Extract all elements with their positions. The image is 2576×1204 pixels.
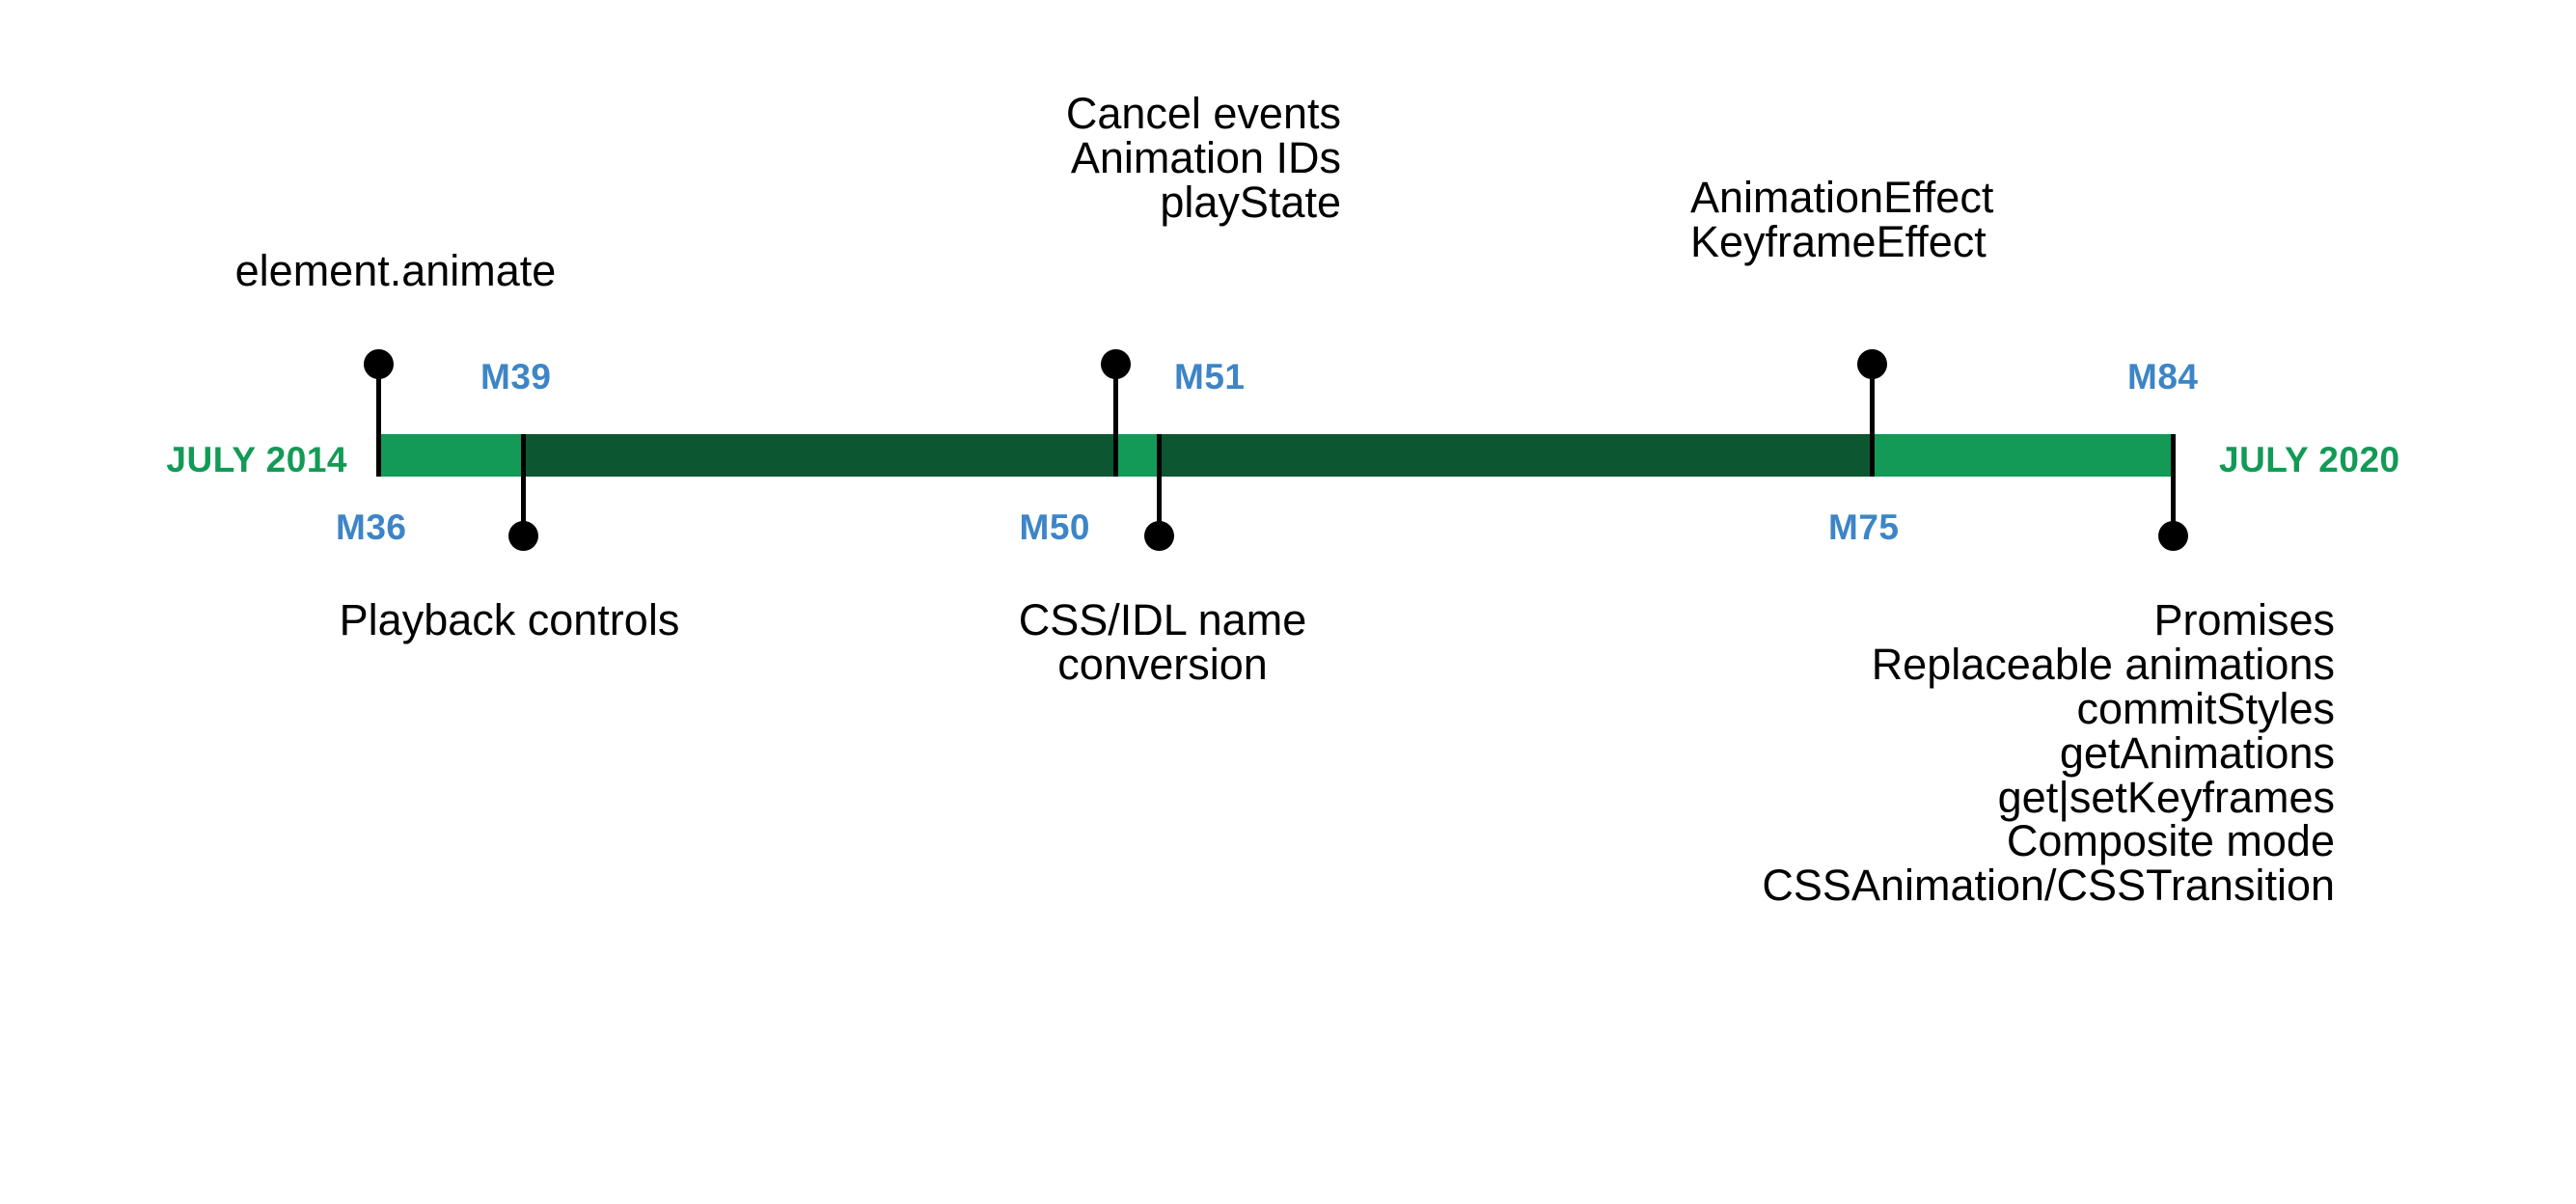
bar-segment-m50-m75 bbox=[1157, 434, 1870, 477]
marker-stem-m75 bbox=[1870, 364, 1875, 477]
feature-block-effects: AnimationEffect KeyframeEffect bbox=[1690, 176, 2366, 264]
milestone-label-m36[interactable]: M36 bbox=[336, 509, 406, 545]
feature-line: CSSAnimation/CSSTransition bbox=[1380, 863, 2335, 908]
bar-segment-m39-m51 bbox=[523, 434, 1113, 477]
marker-stem-m84 bbox=[2171, 434, 2176, 536]
bar-segment-m51-m50 bbox=[1113, 434, 1157, 477]
feature-line: Composite mode bbox=[1380, 819, 2335, 863]
milestone-label-m39[interactable]: M39 bbox=[480, 359, 551, 395]
marker-stem-m36 bbox=[376, 364, 381, 477]
feature-line: Cancel events bbox=[579, 92, 1341, 136]
milestone-label-m51[interactable]: M51 bbox=[1174, 359, 1245, 395]
feature-line: Promises bbox=[1380, 598, 2335, 643]
timeline-figure: JULY 2014 JULY 2020 M36 element.animate … bbox=[0, 0, 2576, 1204]
feature-block-cancel-events: Cancel events Animation IDs playState bbox=[579, 92, 1341, 225]
feature-line: KeyframeEffect bbox=[1690, 220, 2366, 264]
feature-block-element-animate: element.animate bbox=[135, 249, 656, 293]
bar-segment-july2014-m39 bbox=[378, 434, 523, 477]
marker-stem-m51 bbox=[1113, 364, 1118, 477]
feature-line: getAnimations bbox=[1380, 731, 2335, 776]
feature-line: Animation IDs bbox=[579, 136, 1341, 180]
timeline-bar bbox=[378, 434, 2171, 477]
milestone-label-m75[interactable]: M75 bbox=[1828, 509, 1899, 545]
feature-block-css-idl-conversion: CSS/IDL name conversion bbox=[902, 598, 1423, 687]
feature-line: Replaceable animations bbox=[1380, 643, 2335, 687]
feature-block-playback-controls: Playback controls bbox=[249, 598, 770, 643]
milestone-label-m50[interactable]: M50 bbox=[849, 509, 1090, 545]
timeline-start-date: JULY 2014 bbox=[58, 442, 347, 478]
feature-line: get|setKeyframes bbox=[1380, 776, 2335, 820]
feature-line: element.animate bbox=[135, 249, 656, 293]
marker-stem-m50 bbox=[1157, 434, 1162, 536]
feature-line: playState bbox=[579, 180, 1341, 225]
bar-segment-m75-july2020 bbox=[1870, 434, 2171, 477]
feature-line: commitStyles bbox=[1380, 687, 2335, 731]
feature-line: Playback controls bbox=[249, 598, 770, 643]
marker-stem-m39 bbox=[521, 434, 526, 536]
feature-line: conversion bbox=[902, 643, 1423, 687]
feature-line: CSS/IDL name bbox=[902, 598, 1423, 643]
milestone-label-m84[interactable]: M84 bbox=[2127, 359, 2198, 395]
feature-block-m84-features: Promises Replaceable animations commitSt… bbox=[1380, 598, 2335, 908]
timeline-end-date: JULY 2020 bbox=[2219, 442, 2547, 478]
feature-line: AnimationEffect bbox=[1690, 176, 2366, 220]
